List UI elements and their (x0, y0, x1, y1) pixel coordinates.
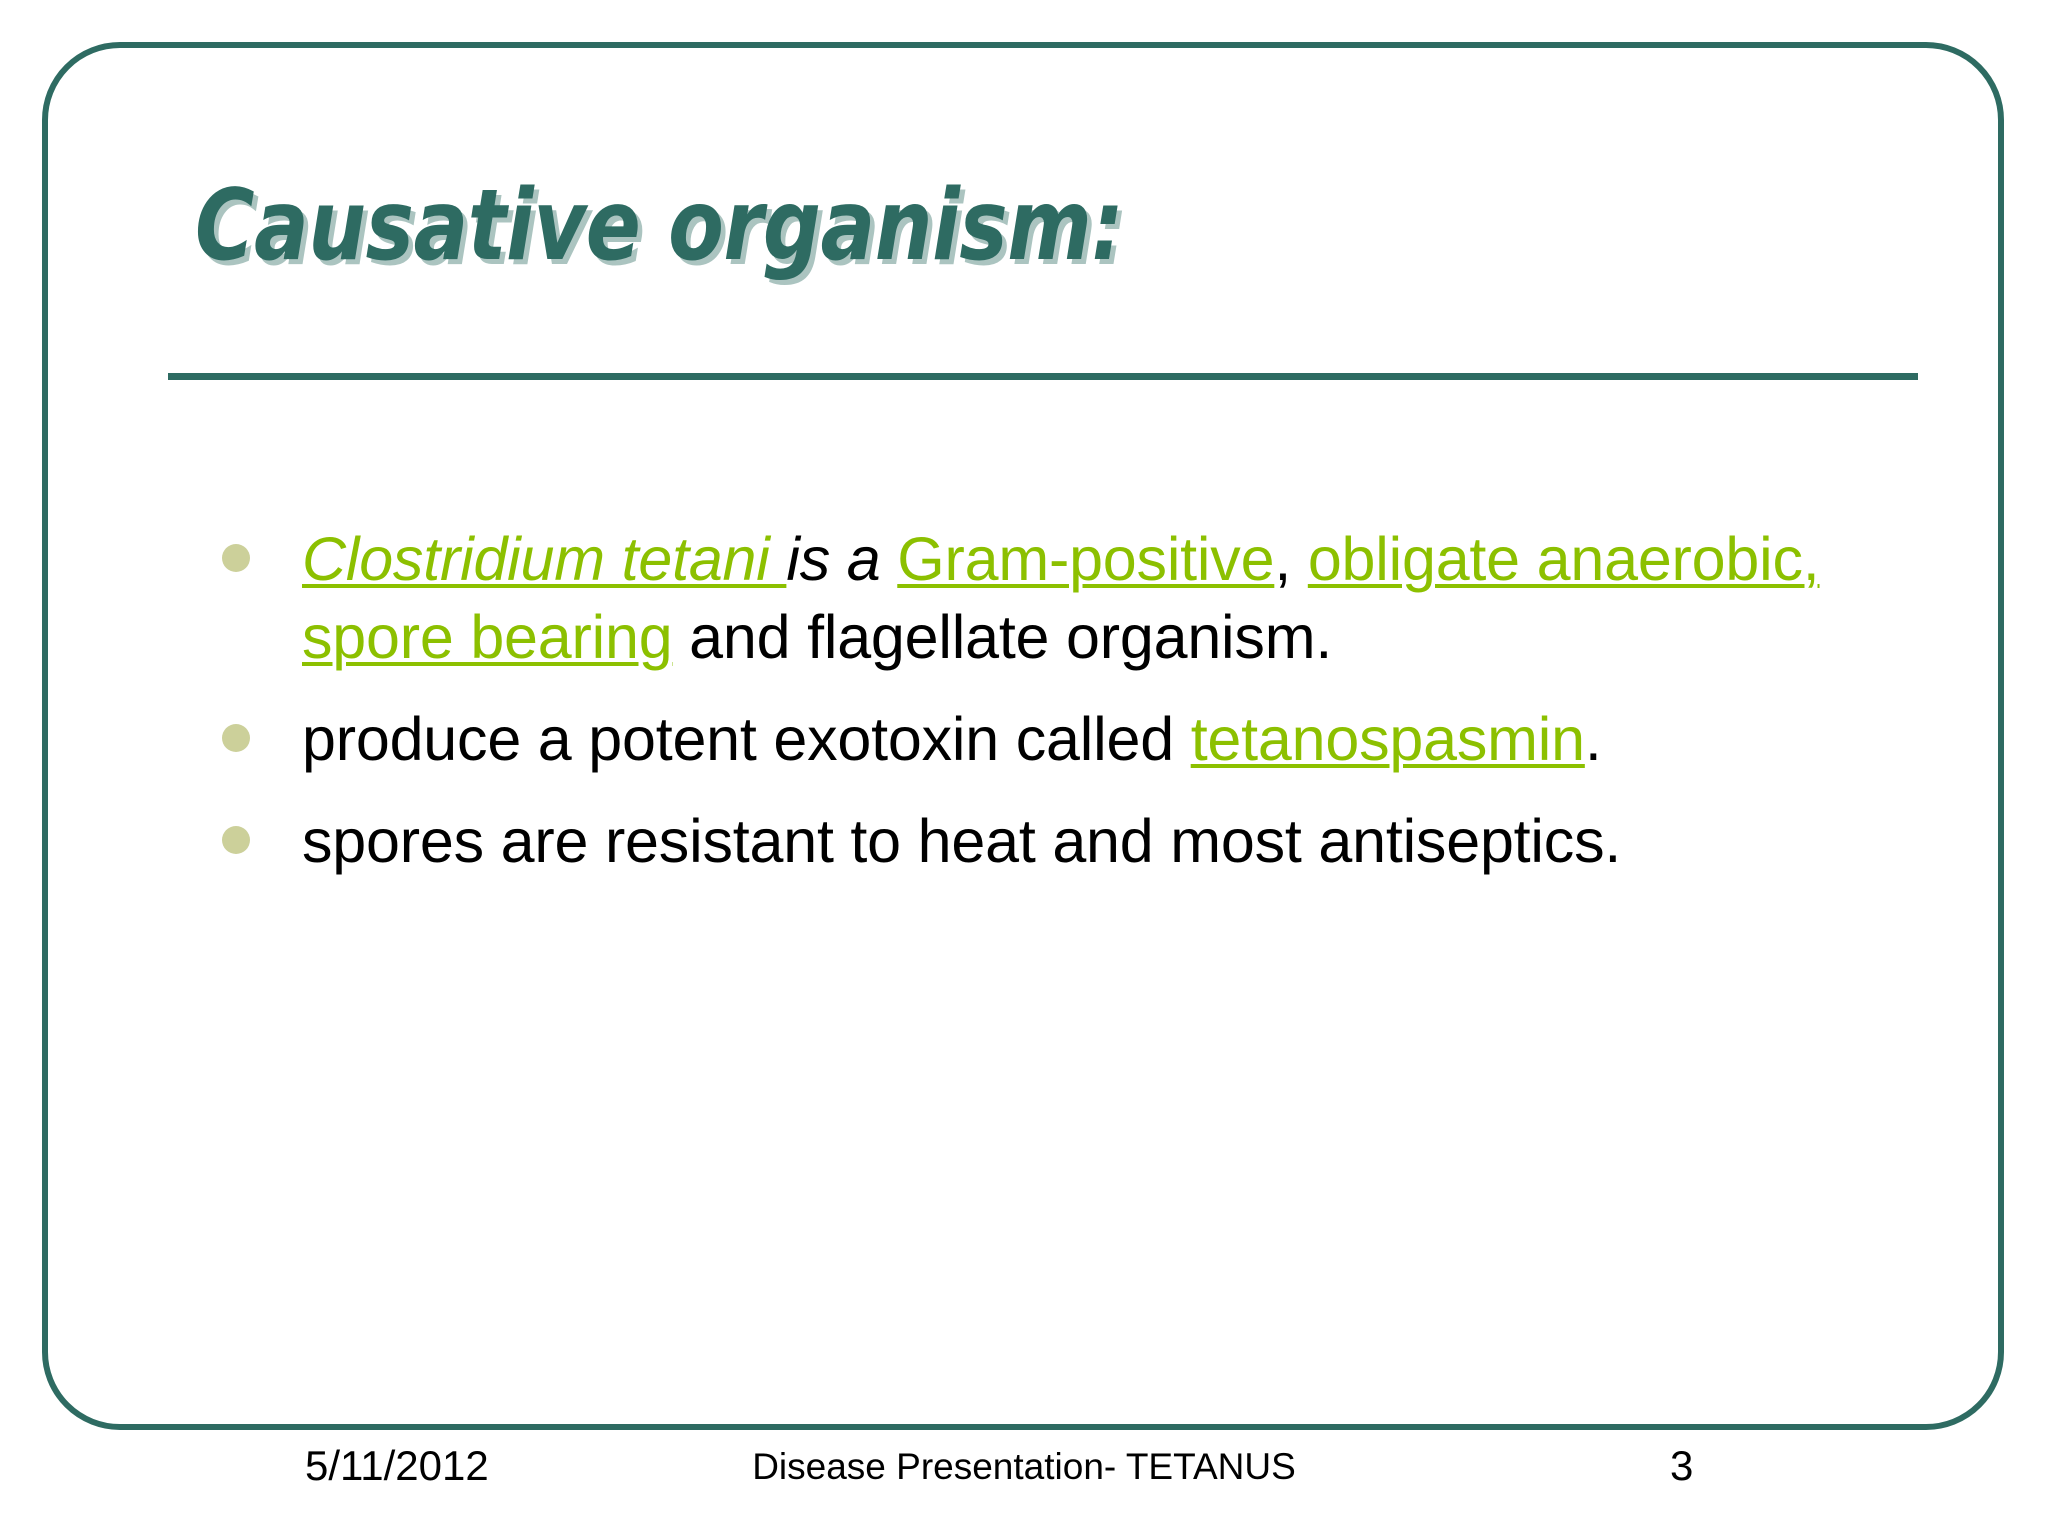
bullet-disc-icon (222, 544, 250, 572)
slide-footer: 5/11/2012 Disease Presentation- TETANUS … (0, 1442, 2048, 1522)
list-item: spores are resistant to heat and most an… (200, 802, 1890, 880)
footer-presentation-title: Disease Presentation- TETANUS (0, 1446, 2048, 1488)
text-run: Gram-positive (897, 525, 1274, 593)
bullet-disc-icon (222, 826, 250, 854)
list-item-text: produce a potent exotoxin called tetanos… (302, 705, 1602, 773)
slide: Causative organism: Clostridium tetani i… (0, 0, 2048, 1536)
list-item: produce a potent exotoxin called tetanos… (200, 700, 1890, 778)
text-run: Clostridium tetani (302, 525, 786, 593)
text-run: spores are resistant to heat and most an… (302, 807, 1621, 875)
footer-page-number: 3 (1670, 1442, 1693, 1490)
text-run: tetanospasmin (1191, 705, 1585, 773)
list-item: Clostridium tetani is a Gram-positive, o… (200, 520, 1890, 676)
title-divider-rule (168, 373, 1918, 380)
bullet-disc-icon (222, 724, 250, 752)
text-run: . (1585, 705, 1602, 773)
text-run: and flagellate organism. (672, 603, 1332, 671)
list-item-text: spores are resistant to heat and most an… (302, 807, 1621, 875)
list-item-text: Clostridium tetani is a Gram-positive, o… (302, 525, 1820, 671)
text-run: is a (786, 525, 897, 593)
text-run: produce a potent exotoxin called (302, 705, 1191, 773)
page-title: Causative organism: (195, 175, 1123, 278)
bullet-list: Clostridium tetani is a Gram-positive, o… (200, 520, 1890, 904)
text-run: , (1274, 525, 1308, 593)
